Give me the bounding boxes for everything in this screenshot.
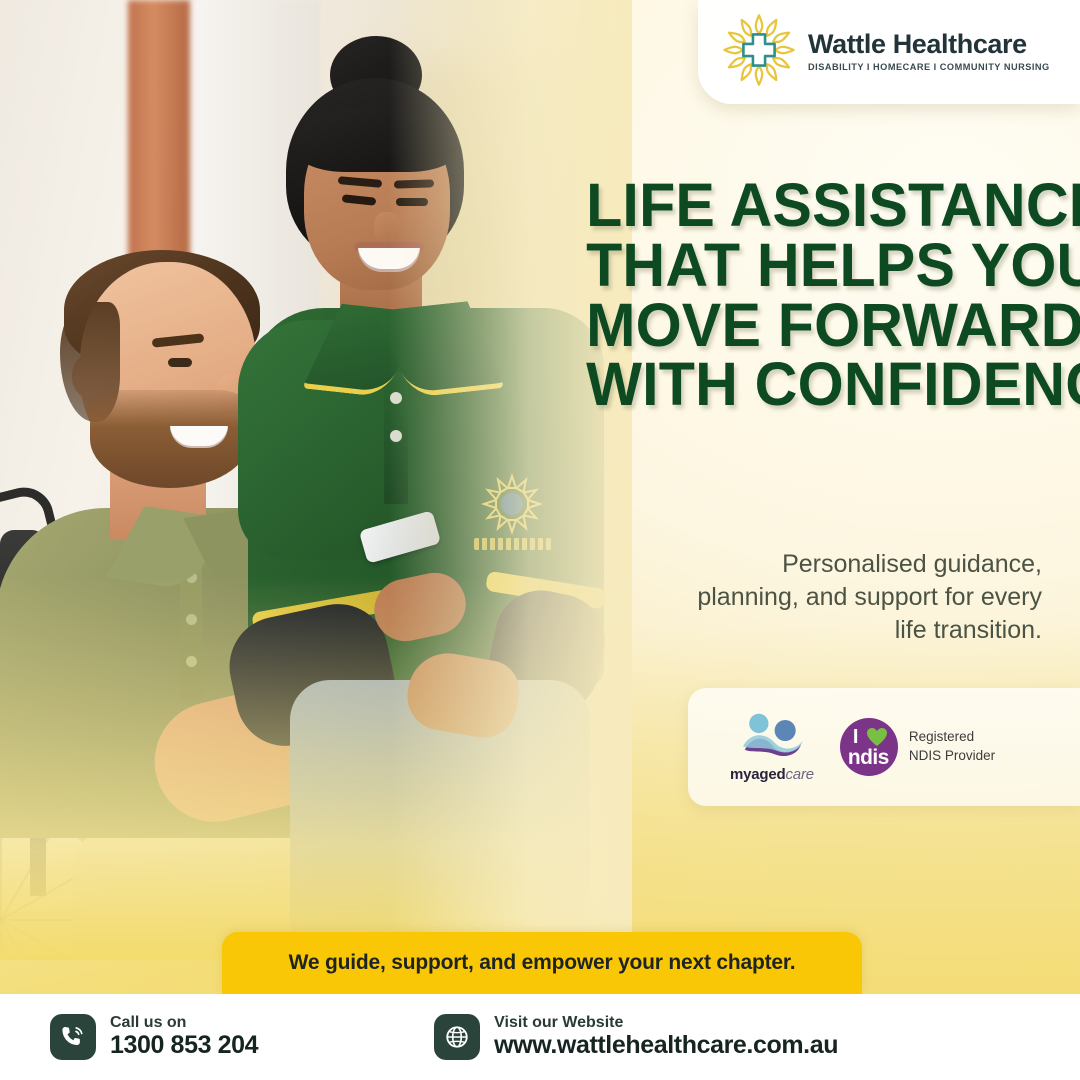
man-beard [90,390,250,488]
brand-tagline: DISABILITY I HOMECARE I COMMUNITY NURSIN… [808,63,1050,72]
ndis-label-line-1: Registered [909,729,974,744]
subheading-line-2: planning, and support for every [612,581,1042,614]
carer-hairline [298,106,456,172]
carer-woman [242,20,612,740]
headline-line-4: WITH CONFIDENCE [586,355,1042,415]
brand-name: Wattle Healthcare [808,31,1050,58]
page-headline: LIFE ASSISTANCE THAT HELPS YOU MOVE FORW… [586,176,1042,415]
accreditation-badges-panel: myagedcare I ndis Registered NDIS Provid… [688,688,1080,806]
headline-line-1: LIFE ASSISTANCE [586,176,1042,236]
myagedcare-care: care [786,766,814,783]
polo-embroidered-logo-icon [480,472,544,536]
heart-icon [867,728,887,747]
website-url[interactable]: www.wattlehealthcare.com.au [494,1032,838,1058]
myagedcare-wordmark: myagedcare [730,766,814,783]
carer-eye-right [396,198,428,206]
globe-icon [434,1014,480,1060]
website-label: Visit our Website [494,1015,838,1032]
myagedcare-aged: aged [751,766,785,783]
carer-nose [374,212,400,246]
hero-photo [0,0,632,960]
phone-ringing-icon [50,1014,96,1060]
subheading-line-1: Personalised guidance, [612,548,1042,581]
subheading-line-3: life transition. [612,614,1042,647]
ndis-mark-word: ndis [848,747,889,768]
man-eye [168,358,192,367]
ndis-provider-label: Registered NDIS Provider [909,728,995,765]
tagline-banner: We guide, support, and empower your next… [222,932,862,994]
wattle-sunburst-cross-icon [720,11,798,94]
contact-footer: Call us on 1300 853 204 Visit our Websit… [0,994,1080,1080]
footer-phone-block[interactable]: Call us on 1300 853 204 [50,1014,258,1060]
polo-embroidered-text [474,538,554,550]
myagedcare-badge: myagedcare [730,711,814,783]
ndis-badge: I ndis Registered NDIS Provider [840,718,995,776]
marketing-poster: Wattle Healthcare DISABILITY I HOMECARE … [0,0,1080,1080]
myagedcare-my: my [730,766,751,783]
carer-eyebrow-right [394,179,434,188]
headline-line-3: MOVE FORWARD [586,296,1042,356]
footer-website-block[interactable]: Visit our Website www.wattlehealthcare.c… [434,1014,838,1060]
phone-label: Call us on [110,1015,258,1032]
ndis-label-line-2: NDIS Provider [909,748,995,763]
ndis-mark-i: I [853,727,859,747]
myagedcare-people-icon [736,711,808,762]
headline-line-2: THAT HELPS YOU [586,236,1042,296]
ndis-circle-icon: I ndis [840,718,898,776]
tagline-text: We guide, support, and empower your next… [289,951,796,975]
brand-header-panel: Wattle Healthcare DISABILITY I HOMECARE … [698,0,1080,104]
page-subheading: Personalised guidance, planning, and sup… [612,548,1042,647]
phone-number[interactable]: 1300 853 204 [110,1032,258,1058]
